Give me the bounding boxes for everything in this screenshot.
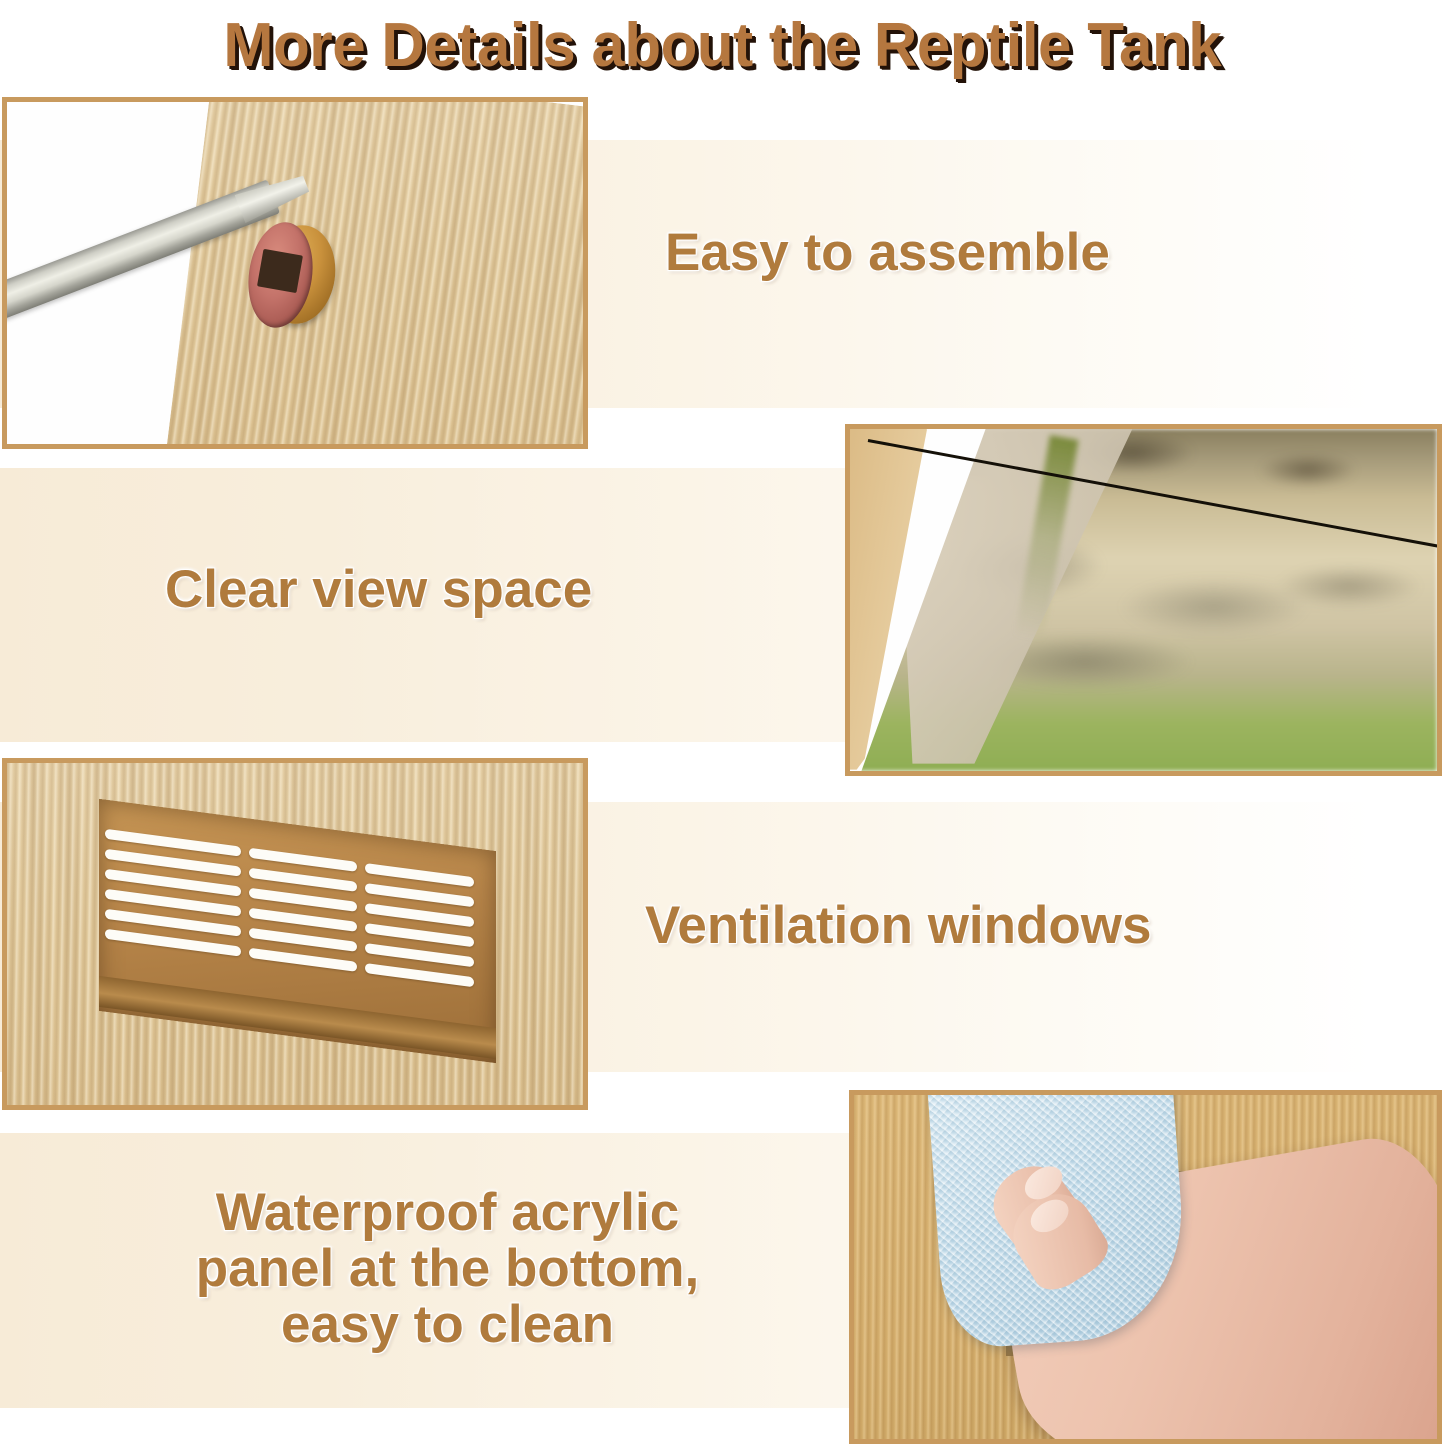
feature-image-waterproof	[849, 1090, 1442, 1444]
feature-image-ventilation	[2, 758, 588, 1110]
vent-slot	[249, 868, 357, 892]
vent-slot	[249, 888, 357, 912]
wood-grain-texture	[161, 102, 583, 444]
vent-slot	[249, 948, 357, 972]
vent-column-1	[105, 807, 241, 979]
vent-slot	[249, 908, 357, 932]
vent-slot	[365, 943, 473, 967]
vent-column-2	[249, 826, 357, 994]
caption-easy-to-assemble: Easy to assemble	[665, 225, 1110, 281]
vent-slot	[365, 963, 473, 987]
caption-waterproof-acrylic: Waterproof acrylic panel at the bottom, …	[90, 1185, 805, 1354]
clear-view-photo	[850, 429, 1437, 771]
vent-column-3	[365, 841, 473, 1009]
vent-slot	[365, 923, 473, 947]
ventilation-photo	[7, 763, 583, 1105]
page-title: More Details about the Reptile Tank	[224, 15, 1222, 77]
vent-slot	[365, 883, 473, 907]
screwdriver-photo	[7, 102, 583, 444]
caption-clear-view-space: Clear view space	[165, 562, 592, 618]
cleaning-photo	[854, 1095, 1437, 1439]
feature-image-assemble	[2, 97, 588, 449]
screw-phillips-slot	[257, 249, 303, 293]
vent-slot	[249, 928, 357, 952]
vent-slot	[365, 903, 473, 927]
feature-image-clear-view	[845, 424, 1442, 776]
caption-ventilation-windows: Ventilation windows	[645, 898, 1151, 954]
page-header: More Details about the Reptile Tank	[0, 0, 1445, 92]
wood-board	[161, 102, 583, 444]
